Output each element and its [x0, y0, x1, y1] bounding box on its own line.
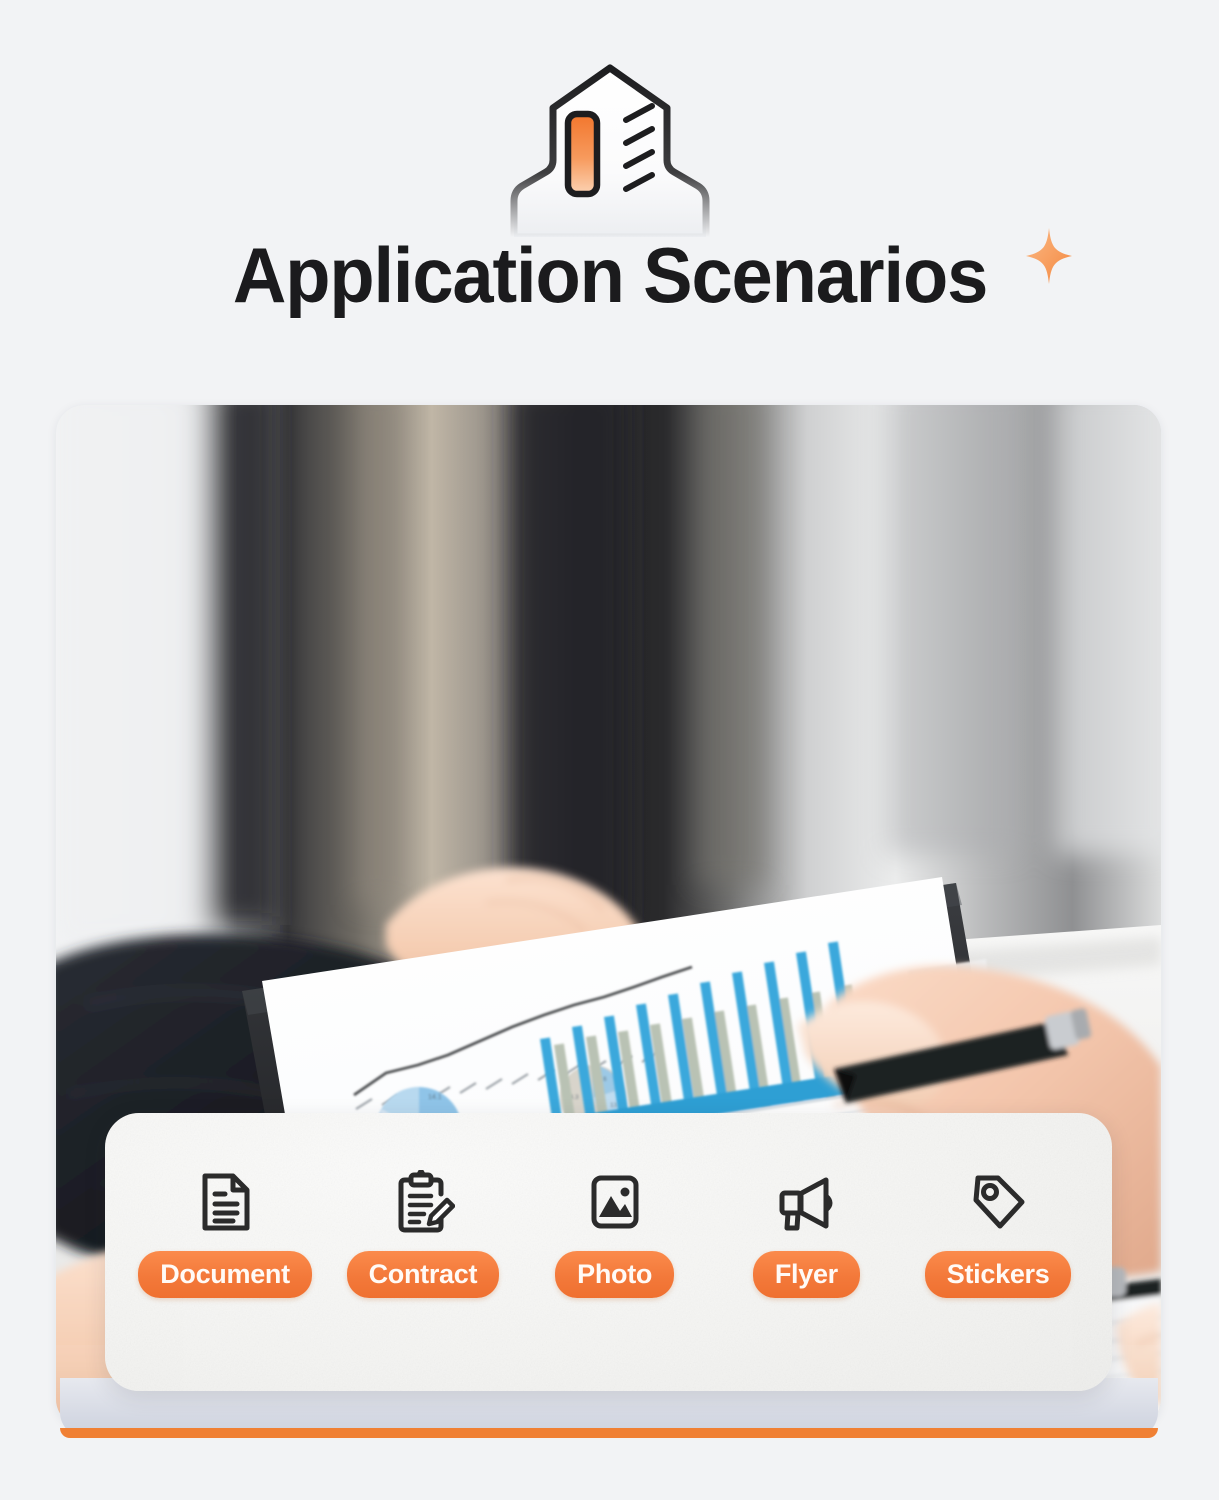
price-tag-icon [961, 1165, 1035, 1239]
badge-row: Document [105, 1165, 1112, 1298]
badge-item-contract[interactable]: Contract [343, 1165, 503, 1298]
badge-item-stickers[interactable]: Stickers [918, 1165, 1078, 1298]
badge-item-flyer[interactable]: Flyer [727, 1165, 887, 1298]
page-header: Application Scenarios [0, 0, 1219, 370]
megaphone-icon [769, 1165, 843, 1239]
badge-label-flyer[interactable]: Flyer [753, 1251, 860, 1298]
application-badges-panel: Document [105, 1113, 1112, 1391]
document-icon [188, 1165, 262, 1239]
badge-label-stickers[interactable]: Stickers [925, 1251, 1072, 1298]
badge-label-document[interactable]: Document [138, 1251, 312, 1298]
sparkle-icon [1026, 228, 1072, 284]
svg-text:14.1: 14.1 [428, 1094, 442, 1101]
clipboard-pencil-icon [386, 1165, 460, 1239]
application-scenarios-page: Application Scenarios [0, 0, 1219, 1500]
badge-label-contract[interactable]: Contract [347, 1251, 500, 1298]
building-document-logo-icon [502, 62, 718, 237]
page-title-text: Application Scenarios [232, 236, 986, 314]
badge-item-photo[interactable]: Photo [535, 1165, 695, 1298]
badge-item-document[interactable]: Document [139, 1165, 311, 1298]
badge-label-photo[interactable]: Photo [555, 1251, 674, 1298]
image-icon [578, 1165, 652, 1239]
